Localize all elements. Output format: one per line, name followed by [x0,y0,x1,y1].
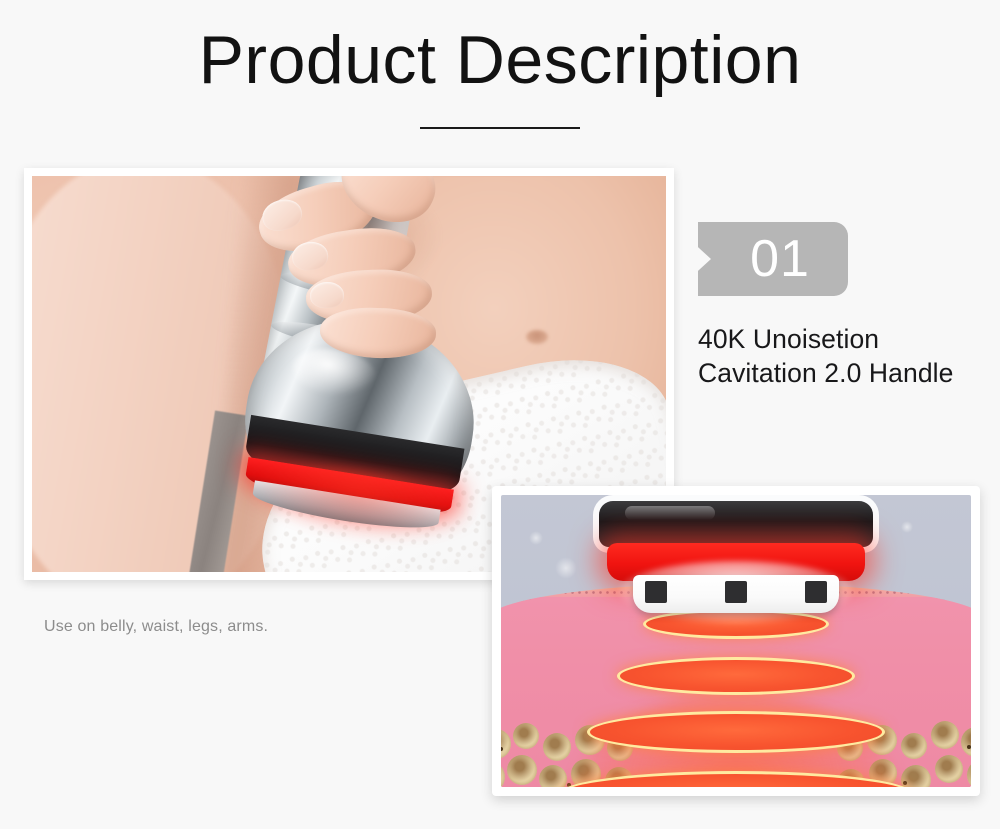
photo-navel [526,330,548,344]
fat-cell [539,765,567,787]
photo-hand [264,176,494,394]
feature-number-badge: 01 [698,222,848,296]
fat-cell [501,729,511,759]
diagram-bokeh-dot [901,521,913,533]
title-divider [420,127,580,129]
device-contact-pad [645,581,667,603]
photo-caption: Use on belly, waist, legs, arms. [44,618,268,636]
fat-cell [901,733,927,759]
fat-cell [507,755,537,785]
diagram-speck [903,781,907,785]
ultrasonic-wave [587,711,885,753]
fat-cell [935,755,963,783]
device-base-plate [633,575,839,613]
diagram-speck [967,745,971,749]
diagram-bokeh-dot [555,557,577,579]
hand-finger [319,306,437,360]
diagram-bokeh-dot [529,531,543,545]
inset-illustration-card [492,486,980,796]
fat-cell [931,721,959,749]
page-title: Product Description [0,26,1000,94]
cavitation-diagram [501,495,971,787]
device-contact-pad [725,581,747,603]
device-body [599,501,873,547]
device-contact-pad [805,581,827,603]
fat-cell [967,759,971,787]
fat-cell [513,723,539,749]
feature-number: 01 [750,233,810,285]
fat-cell [961,727,971,757]
feature-info-column: 01 40K Unoisetion Cavitation 2.0 Handle [698,222,970,391]
device-body-gloss [625,506,715,520]
fat-cell [543,733,571,761]
feature-title: 40K Unoisetion Cavitation 2.0 Handle [698,322,970,391]
fat-cell [501,761,505,787]
ultrasonic-wave [617,657,855,695]
